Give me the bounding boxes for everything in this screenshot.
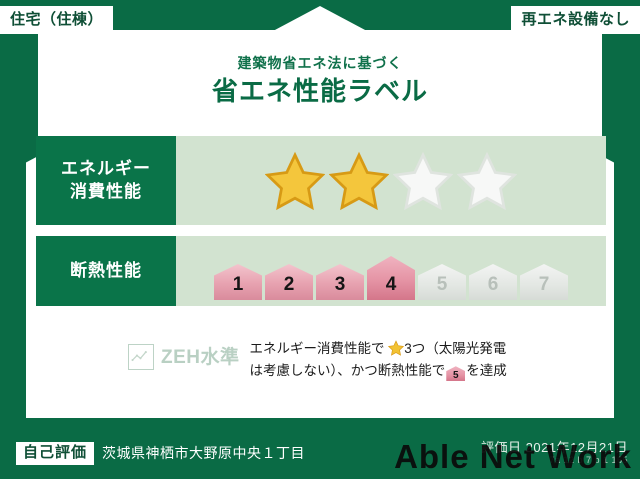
grade-badge-number: 7 (539, 275, 550, 300)
grade-badge-number: 6 (488, 275, 499, 300)
renewable-equipment-tag: 再エネ設備なし (511, 6, 640, 34)
star-icon-filled (265, 151, 325, 211)
footer-left: 自己評価 茨城県神栖市大野原中央１丁目 (16, 442, 305, 466)
energy-performance-row: エネルギー 消費性能 (36, 136, 606, 225)
inline-grade-badge: 5 (446, 366, 465, 381)
inline-grade-number: 5 (446, 366, 465, 385)
zeh-mark: ZEH水準 (128, 338, 240, 370)
grade-badge-number: 5 (437, 275, 448, 300)
title-block: 建築物省エネ法に基づく 省エネ性能ラベル (0, 56, 640, 106)
zeh-desc-line2-b: を達成 (466, 363, 507, 378)
self-evaluation-badge: 自己評価 (16, 442, 94, 466)
zeh-mark-label: ZEH水準 (161, 348, 240, 367)
page-title: 省エネ性能ラベル (0, 77, 640, 106)
insulation-performance-row: 断熱性能 1234567 (36, 236, 606, 306)
star-icon-empty (457, 151, 517, 211)
zeh-standard-row: ZEH水準 エネルギー消費性能で 3つ（太陽光発電 は考慮しない）、かつ断熱性能… (128, 338, 507, 383)
title-subtitle: 建築物省エネ法に基づく (0, 56, 640, 71)
energy-performance-label: 住宅（住棟） 再エネ設備なし 建築物省エネ法に基づく 省エネ性能ラベル エネルギ… (0, 0, 640, 479)
grade-badge-3: 3 (316, 264, 364, 300)
energy-label-line2: 消費性能 (70, 181, 142, 204)
grade-badge-number: 2 (284, 275, 295, 300)
grade-badge-4: 4 (367, 256, 415, 300)
zeh-description: エネルギー消費性能で 3つ（太陽光発電 は考慮しない）、かつ断熱性能で 5 を達… (250, 338, 507, 383)
grade-badge-7: 7 (520, 264, 568, 300)
grade-scale: 1234567 (214, 236, 568, 306)
zeh-desc-line1-a: エネルギー消費性能で (250, 341, 385, 356)
energy-performance-label: エネルギー 消費性能 (36, 136, 176, 225)
star-icon-filled (329, 151, 389, 211)
energy-performance-value (176, 136, 606, 225)
grade-badge-number: 4 (386, 275, 397, 300)
grade-badge-number: 3 (335, 275, 346, 300)
evaluation-id: 7a 12 b 7 b 1 165 (481, 455, 628, 467)
zeh-desc-line1-b: 3つ（太陽光発電 (404, 341, 506, 356)
property-address: 茨城県神栖市大野原中央１丁目 (102, 443, 305, 463)
star-rating (265, 151, 517, 211)
star-icon (388, 340, 404, 356)
star-icon-empty (393, 151, 453, 211)
grade-badge-1: 1 (214, 264, 262, 300)
energy-label-line1: エネルギー (61, 158, 151, 181)
grade-badge-number: 1 (233, 275, 244, 300)
grade-badge-2: 2 (265, 264, 313, 300)
zeh-desc-line2-a: は考慮しない）、かつ断熱性能で (250, 363, 446, 378)
evaluation-date: 評価日 2021年12月21日 (481, 440, 628, 456)
footer-right: 評価日 2021年12月21日 7a 12 b 7 b 1 165 (481, 440, 628, 467)
insulation-label-text: 断熱性能 (70, 260, 142, 283)
insulation-performance-label: 断熱性能 (36, 236, 176, 306)
grade-badge-5: 5 (418, 264, 466, 300)
zeh-description-line2: は考慮しない）、かつ断熱性能で 5 を達成 (250, 360, 507, 382)
zeh-chart-icon (128, 344, 154, 370)
grade-badge-6: 6 (469, 264, 517, 300)
building-type-tag: 住宅（住棟） (0, 6, 113, 34)
insulation-performance-value: 1234567 (176, 236, 606, 306)
zeh-description-line1: エネルギー消費性能で 3つ（太陽光発電 (250, 338, 507, 360)
